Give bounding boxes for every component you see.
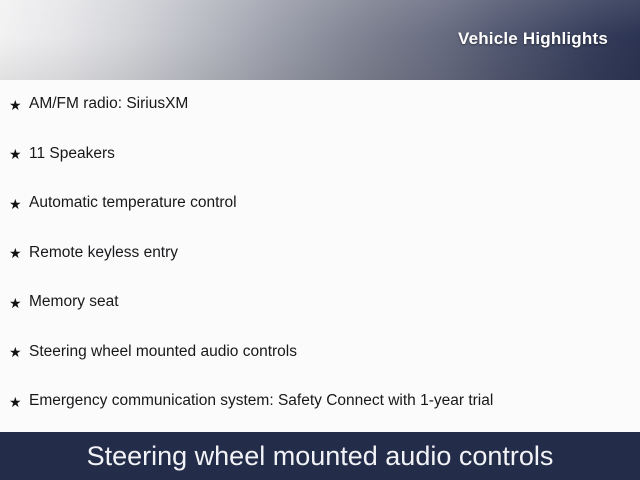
list-item: ★ 11 Speakers [0,130,640,180]
caption-label: Steering wheel mounted audio controls [87,443,554,470]
star-bullet-icon: ★ [9,296,29,310]
list-item: ★ Remote keyless entry [0,229,640,279]
star-bullet-icon: ★ [9,395,29,409]
list-item: ★ AM/FM radio: SiriusXM [0,80,640,130]
star-bullet-icon: ★ [9,246,29,260]
star-bullet-icon: ★ [9,345,29,359]
vehicle-highlights-list: ★ AM/FM radio: SiriusXM ★ 11 Speakers ★ … [0,80,640,432]
list-item: ★ Memory seat [0,278,640,328]
list-item-label: Memory seat [29,293,640,312]
list-item: ★ Emergency communication system: Safety… [0,377,640,427]
list-item-label: Automatic temperature control [29,194,640,213]
vehicle-highlights-slide: Vehicle Highlights ★ AM/FM radio: Sirius… [0,0,640,480]
page-title: Vehicle Highlights [458,29,608,49]
list-item: ★ Steering wheel mounted audio controls [0,328,640,378]
star-bullet-icon: ★ [9,197,29,211]
caption-bar: Steering wheel mounted audio controls [0,432,640,480]
list-item-label: Remote keyless entry [29,244,640,263]
list-item-label: AM/FM radio: SiriusXM [29,95,640,114]
header-banner: Vehicle Highlights [0,0,640,80]
star-bullet-icon: ★ [9,147,29,161]
star-bullet-icon: ★ [9,98,29,112]
list-item: ★ Automatic temperature control [0,179,640,229]
list-item-label: Emergency communication system: Safety C… [29,392,640,411]
list-item-label: 11 Speakers [29,145,640,164]
list-item-label: Steering wheel mounted audio controls [29,343,640,362]
